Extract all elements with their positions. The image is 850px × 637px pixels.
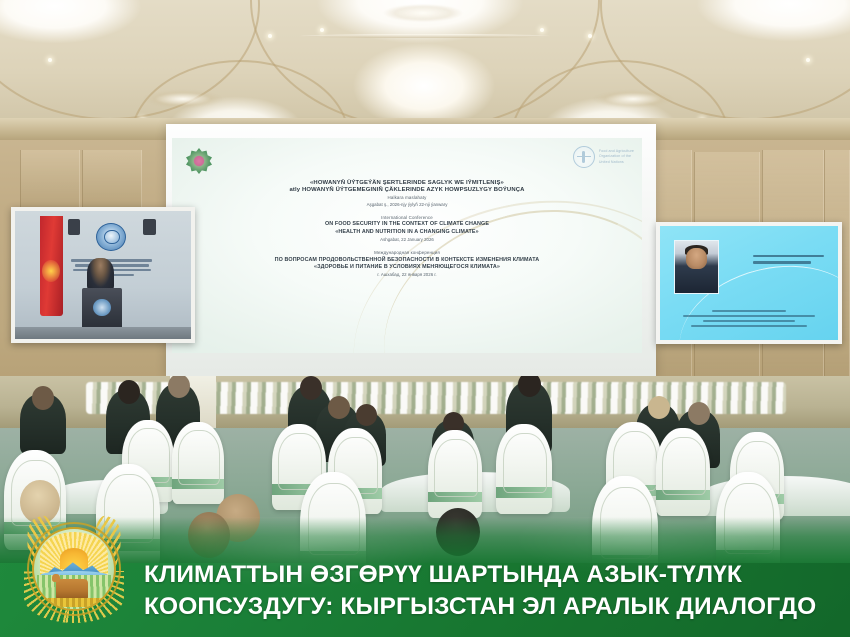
left-monitor [11,207,195,343]
headline-line-1: КЛИМАТТЫН ӨЗГӨРҮҮ ШАРТЫНДА АЗЫК-ТҮЛҮК [144,559,844,591]
attendee-head [688,402,710,425]
right-monitor [656,222,842,344]
emblem-gold-ring [27,522,121,616]
ru-subtitle: Международная конференция [172,250,642,255]
right-monitor-feed [660,226,838,340]
en-venue-date: Ashgabat, 22 January 2026 [172,237,642,242]
slide-block-turkmen: «HOWANYŇ ÜÝTGEÝÄN ŞERTLERINDE SAGLYK WE … [172,180,642,207]
speaker-name-block [753,251,824,268]
turkmenistan-star-emblem-icon [186,148,212,174]
ceiling-light-dot [268,34,272,38]
ru-venue-date: г. Ашхабад, 22 января 2026 г. [172,272,642,277]
main-presentation-slide: Food and Agriculture Organization of the… [172,138,642,353]
ceiling-light-dot [806,58,810,62]
kyrgyzstan-flag [40,216,63,316]
tk-venue-date: Aşgabat ş., 2026-njy ýylyň 22-nji ýanwar… [172,202,642,207]
room-floor [15,327,191,339]
banquet-chair [496,424,552,514]
wall-panel [20,150,80,210]
attendee-head [300,376,322,400]
en-title-quote: «HEALTH AND NUTRITION IN A CHANGING CLIM… [172,229,642,235]
fao-wheat-icon [573,146,595,168]
ceiling-ornament [380,2,466,24]
ceiling-light-dot [588,34,592,38]
ceiling-light-dot [320,28,324,32]
fao-logo-text: Food and Agriculture Organization of the… [599,149,634,165]
attendee-head [648,396,670,419]
ceiling-ornament [590,88,676,110]
speaker-portrait [674,240,719,295]
attendee-head [356,404,377,426]
ceiling-light-dot [540,28,544,32]
ceiling-light-dot [48,58,52,62]
ceiling-speaker [68,219,80,236]
attendee-head [328,396,350,419]
lower-third-headline: КЛИМАТТЫН ӨЗГӨРҮҮ ШАРТЫНДА АЗЫК-ТҮЛҮК КО… [144,559,844,623]
attendee-head [32,386,54,410]
hall-ceiling [0,0,850,132]
tk-subtitle: Halkara maslahaty [172,195,642,200]
slide-block-english: International Conference ON FOOD SECURIT… [172,215,642,242]
tk-title-main: atly HOWANYŇ ÜÝTGEMEGINIŇ ÇÄKLERINDE AZY… [172,187,642,193]
ru-title-main: ПО ВОПРОСАМ ПРОДОВОЛЬСТВЕННОЙ БЕЗОПАСНОС… [172,257,642,263]
attendee-head [118,380,140,404]
tk-title-quote: «HOWANYŇ ÜÝTGEÝÄN ŞERTLERINDE SAGLYK WE … [172,180,642,186]
banquet-chair [428,430,482,518]
slide-block-russian: Международная конференция ПО ВОПРОСАМ ПР… [172,250,642,277]
left-monitor-feed [15,211,191,339]
ceiling-ridge [300,34,550,38]
ceiling-ornament [140,88,226,110]
ru-title-quote: «ЗДОРОВЬЕ И ПИТАНИЕ В УСЛОВИЯХ МЕНЯЮЩЕГО… [172,264,642,270]
banquet-chair [172,422,224,504]
slide-text-body: «HOWANYŇ ÜÝTGEÝÄN ŞERTLERINDE SAGLYK WE … [172,178,642,285]
institution-seal-icon [96,223,126,251]
wall-panel [82,150,142,208]
en-title-main: ON FOOD SECURITY IN THE CONTEXT OF CLIMA… [172,221,642,227]
fao-logo: Food and Agriculture Organization of the… [573,146,634,168]
ceiling-speaker [143,219,155,236]
headline-line-2: КООПСУЗДУГУ: КЫРГЫЗСТАН ЭЛ АРАЛЫК ДИАЛОГ… [144,591,844,623]
portrait-face [686,248,706,269]
kyrgyz-agriculture-ministry-emblem [18,515,130,627]
speaker-figure [87,258,113,291]
en-subtitle: International Conference [172,215,642,220]
broadcast-frame: Food and Agriculture Organization of the… [0,0,850,637]
speaker-title-block [681,307,816,330]
banquet-chair [656,428,710,516]
